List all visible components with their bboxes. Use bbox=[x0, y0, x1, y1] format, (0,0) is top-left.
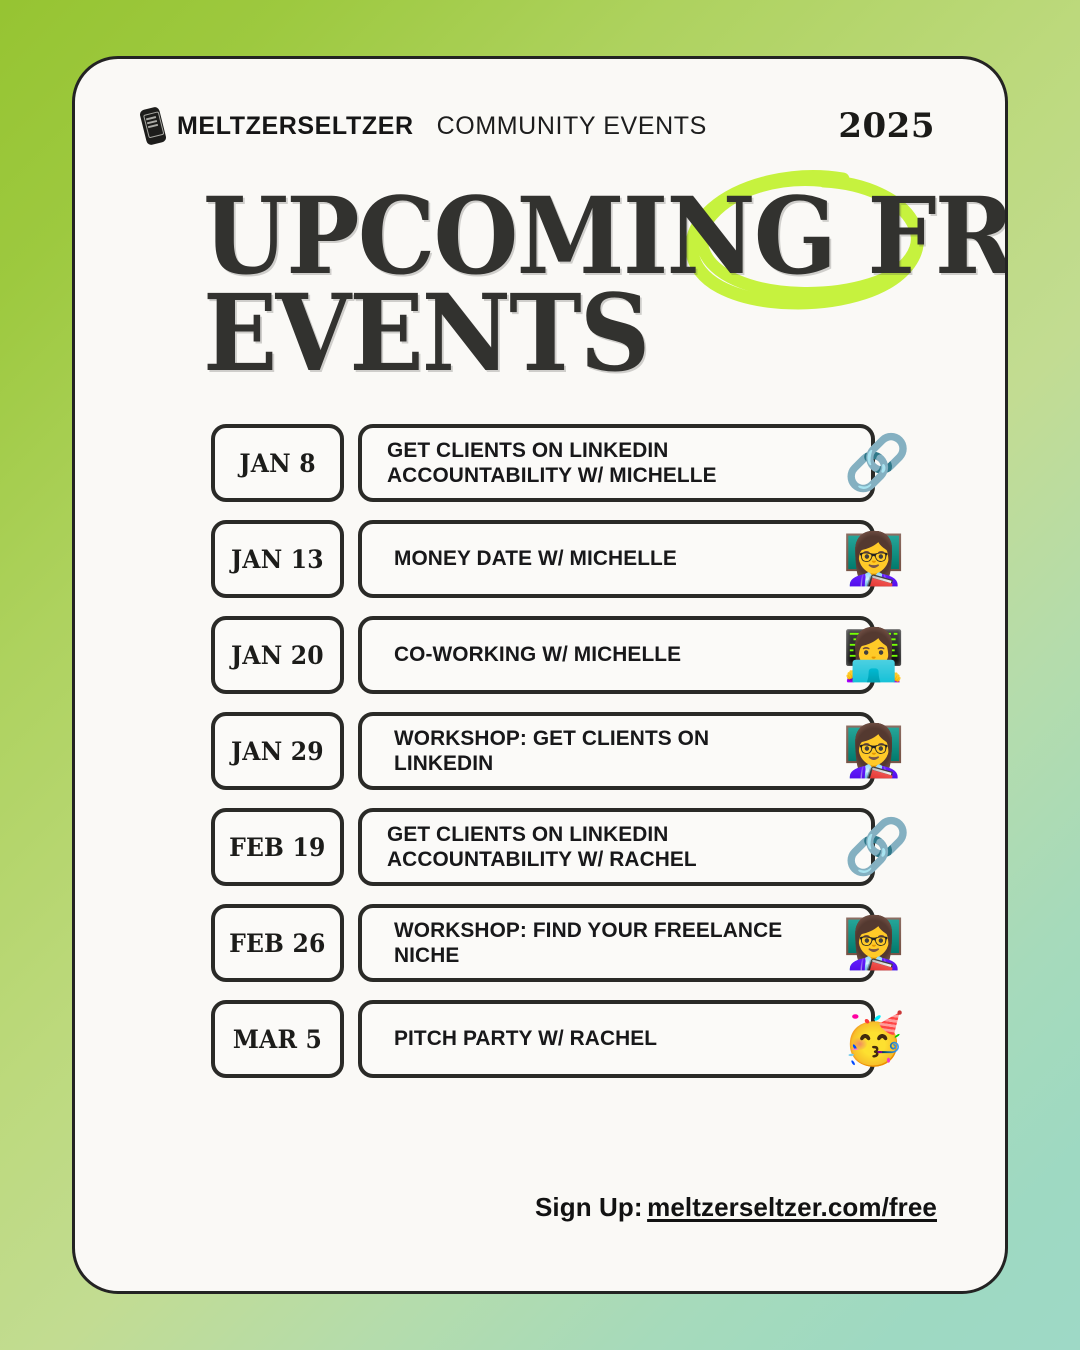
event-title-box: WORKSHOP: GET CLIENTS ON LINKEDIN👩‍🏫 bbox=[358, 712, 875, 790]
partying-face-icon: 🥳 bbox=[843, 1014, 905, 1064]
event-title-box: CO-WORKING W/ MICHELLE👩‍💻 bbox=[358, 616, 875, 694]
event-row: FEB 26WORKSHOP: FIND YOUR FREELANCE NICH… bbox=[211, 904, 875, 982]
event-date-text: FEB 26 bbox=[229, 929, 325, 958]
teacher-icon: 👩‍🏫 bbox=[843, 534, 905, 584]
event-date-text: FEB 19 bbox=[229, 833, 325, 862]
event-row: MAR 5PITCH PARTY W/ RACHEL🥳 bbox=[211, 1000, 875, 1078]
event-row: FEB 19GET CLIENTS ON LINKEDINACCOUNTABIL… bbox=[211, 808, 875, 886]
signup-url-link[interactable]: meltzerseltzer.com/free bbox=[647, 1192, 937, 1222]
event-row: JAN 29WORKSHOP: GET CLIENTS ON LINKEDIN👩… bbox=[211, 712, 875, 790]
brand-tagline: COMMUNITY EVENTS bbox=[437, 112, 707, 141]
event-title-text: MONEY DATE W/ MICHELLE bbox=[394, 546, 677, 571]
event-title-box: GET CLIENTS ON LINKEDINACCOUNTABILITY W/… bbox=[358, 424, 875, 502]
event-title-text: CO-WORKING W/ MICHELLE bbox=[394, 642, 681, 667]
teacher-icon: 👩‍🏫 bbox=[843, 726, 905, 776]
event-title-text: GET CLIENTS ON LINKEDINACCOUNTABILITY W/… bbox=[387, 438, 717, 488]
event-title-box: GET CLIENTS ON LINKEDINACCOUNTABILITY W/… bbox=[358, 808, 875, 886]
event-date-text: MAR 5 bbox=[233, 1025, 322, 1054]
event-row: JAN 20CO-WORKING W/ MICHELLE👩‍💻 bbox=[211, 616, 875, 694]
signup-label: Sign Up: bbox=[535, 1192, 643, 1222]
event-title-text: PITCH PARTY W/ RACHEL bbox=[394, 1026, 657, 1051]
events-list: JAN 8GET CLIENTS ON LINKEDINACCOUNTABILI… bbox=[211, 424, 875, 1096]
event-date-box: JAN 20 bbox=[211, 616, 344, 694]
page-title: UPCOMING FREE EVENTS bbox=[203, 187, 963, 417]
poster-year: 2025 bbox=[838, 106, 935, 146]
poster-card: MELTZERSELTZER COMMUNITY EVENTS 2025 UPC… bbox=[72, 56, 1008, 1294]
event-date-box: JAN 13 bbox=[211, 520, 344, 598]
poster-header: MELTZERSELTZER COMMUNITY EVENTS 2025 bbox=[75, 103, 1005, 149]
event-row: JAN 13MONEY DATE W/ MICHELLE👩‍🏫 bbox=[211, 520, 875, 598]
poster-footer: Sign Up: meltzerseltzer.com/free bbox=[75, 1192, 1005, 1223]
event-date-box: FEB 26 bbox=[211, 904, 344, 982]
link-icon: 🔗 bbox=[844, 820, 911, 874]
event-date-box: JAN 8 bbox=[211, 424, 344, 502]
event-title-text: WORKSHOP: GET CLIENTS ON LINKEDIN bbox=[394, 726, 795, 776]
event-date-text: JAN 13 bbox=[231, 545, 324, 574]
event-title-box: MONEY DATE W/ MICHELLE👩‍🏫 bbox=[358, 520, 875, 598]
technologist-icon: 👩‍💻 bbox=[843, 630, 905, 680]
event-date-box: MAR 5 bbox=[211, 1000, 344, 1078]
event-date-text: JAN 29 bbox=[231, 737, 324, 766]
teacher-icon: 👩‍🏫 bbox=[843, 918, 905, 968]
event-row: JAN 8GET CLIENTS ON LINKEDINACCOUNTABILI… bbox=[211, 424, 875, 502]
event-title-text: WORKSHOP: FIND YOUR FREELANCE NICHE bbox=[394, 918, 795, 968]
event-date-text: JAN 8 bbox=[239, 449, 315, 478]
event-date-text: JAN 20 bbox=[231, 641, 324, 670]
event-title-box: WORKSHOP: FIND YOUR FREELANCE NICHE👩‍🏫 bbox=[358, 904, 875, 982]
brand-name: MELTZERSELTZER bbox=[177, 112, 414, 141]
title-line-2: EVENTS bbox=[203, 284, 648, 382]
event-title-box: PITCH PARTY W/ RACHEL🥳 bbox=[358, 1000, 875, 1078]
link-icon: 🔗 bbox=[844, 436, 911, 490]
event-title-text: GET CLIENTS ON LINKEDINACCOUNTABILITY W/… bbox=[387, 822, 697, 872]
seltzer-can-icon bbox=[139, 106, 167, 146]
event-date-box: FEB 19 bbox=[211, 808, 344, 886]
event-date-box: JAN 29 bbox=[211, 712, 344, 790]
brand-lockup: MELTZERSELTZER COMMUNITY EVENTS bbox=[143, 108, 707, 144]
